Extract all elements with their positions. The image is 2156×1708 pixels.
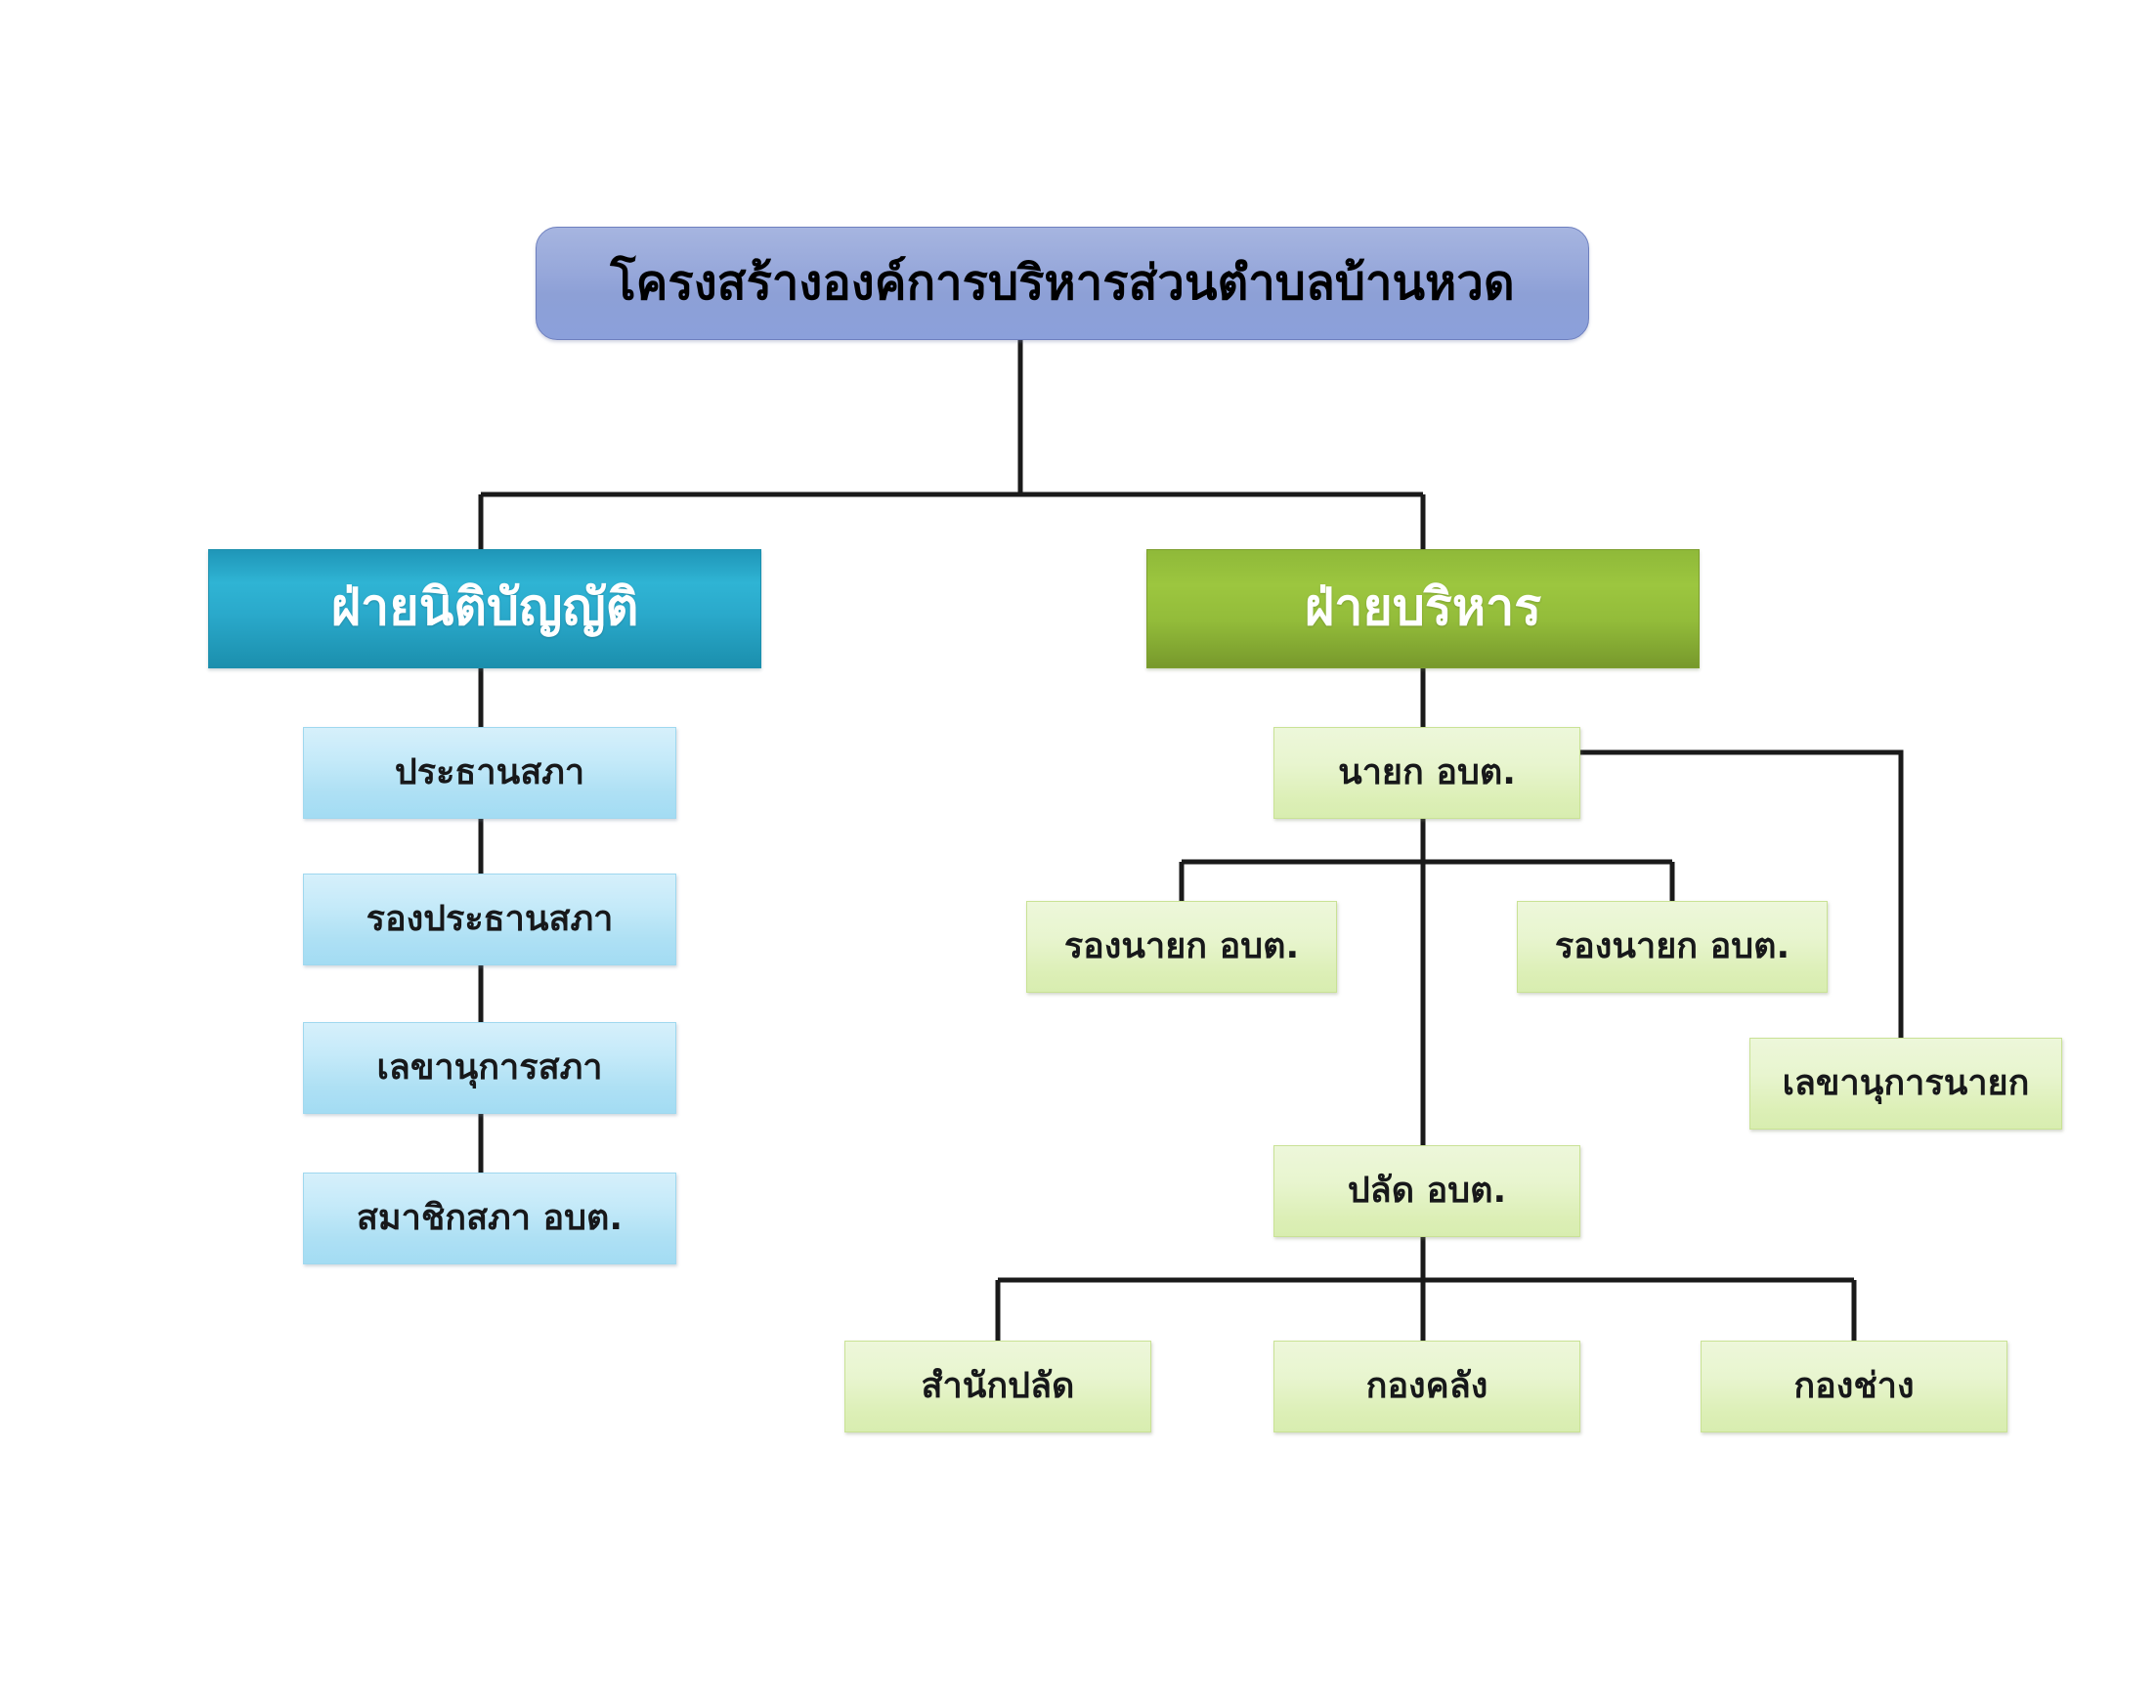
node-mayor-secretary: เลขานุการนายก xyxy=(1749,1038,2062,1130)
node-mayor: นายก อบต. xyxy=(1273,727,1580,819)
node-administrative-office: สำนักปลัด xyxy=(844,1341,1151,1432)
node-administrative-office-label: สำนักปลัด xyxy=(922,1367,1075,1406)
legislative-branch-label: ฝ่ายนิติบัญญัติ xyxy=(331,580,639,636)
node-engineering-division-label: กองช่าง xyxy=(1793,1367,1914,1406)
node-council-members-label: สมาชิกสภา อบต. xyxy=(357,1199,623,1238)
node-mayor-label: นายก อบต. xyxy=(1338,753,1516,792)
executive-branch-header: ฝ่ายบริหาร xyxy=(1146,549,1700,668)
node-deputy-mayor-1: รองนายก อบต. xyxy=(1026,901,1337,993)
node-chief-administrator-label: ปลัด อบต. xyxy=(1348,1172,1506,1211)
executive-branch-label: ฝ่ายบริหาร xyxy=(1305,580,1541,636)
node-deputy-mayor-2: รองนายก อบต. xyxy=(1517,901,1828,993)
node-council-chairman: ประธานสภา xyxy=(303,727,676,819)
edge-mayor-to-mayor-secretary xyxy=(1580,752,1901,1040)
legislative-branch-header: ฝ่ายนิติบัญญัติ xyxy=(208,549,761,668)
node-council-vice-chairman-label: รองประธานสภา xyxy=(367,900,614,939)
chart-title-node: โครงสร้างองค์การบริหารส่วนตำบลบ้านหวด xyxy=(536,227,1589,340)
node-engineering-division: กองช่าง xyxy=(1701,1341,2007,1432)
node-deputy-mayor-1-label: รองนายก อบต. xyxy=(1064,927,1299,966)
chart-title-label: โครงสร้างองค์การบริหารส่วนตำบลบ้านหวด xyxy=(610,257,1514,310)
node-chief-administrator: ปลัด อบต. xyxy=(1273,1145,1580,1237)
node-council-members: สมาชิกสภา อบต. xyxy=(303,1173,676,1264)
node-finance-division-label: กองคลัง xyxy=(1366,1367,1488,1406)
org-chart-canvas: โครงสร้างองค์การบริหารส่วนตำบลบ้านหวด ฝ่… xyxy=(0,0,2156,1708)
node-council-chairman-label: ประธานสภา xyxy=(395,753,584,792)
node-deputy-mayor-2-label: รองนายก อบต. xyxy=(1555,927,1789,966)
node-council-secretary: เลขานุการสภา xyxy=(303,1022,676,1114)
node-council-secretary-label: เลขานุการสภา xyxy=(376,1048,602,1088)
node-council-vice-chairman: รองประธานสภา xyxy=(303,874,676,965)
node-mayor-secretary-label: เลขานุการนายก xyxy=(1783,1064,2030,1103)
node-finance-division: กองคลัง xyxy=(1273,1341,1580,1432)
